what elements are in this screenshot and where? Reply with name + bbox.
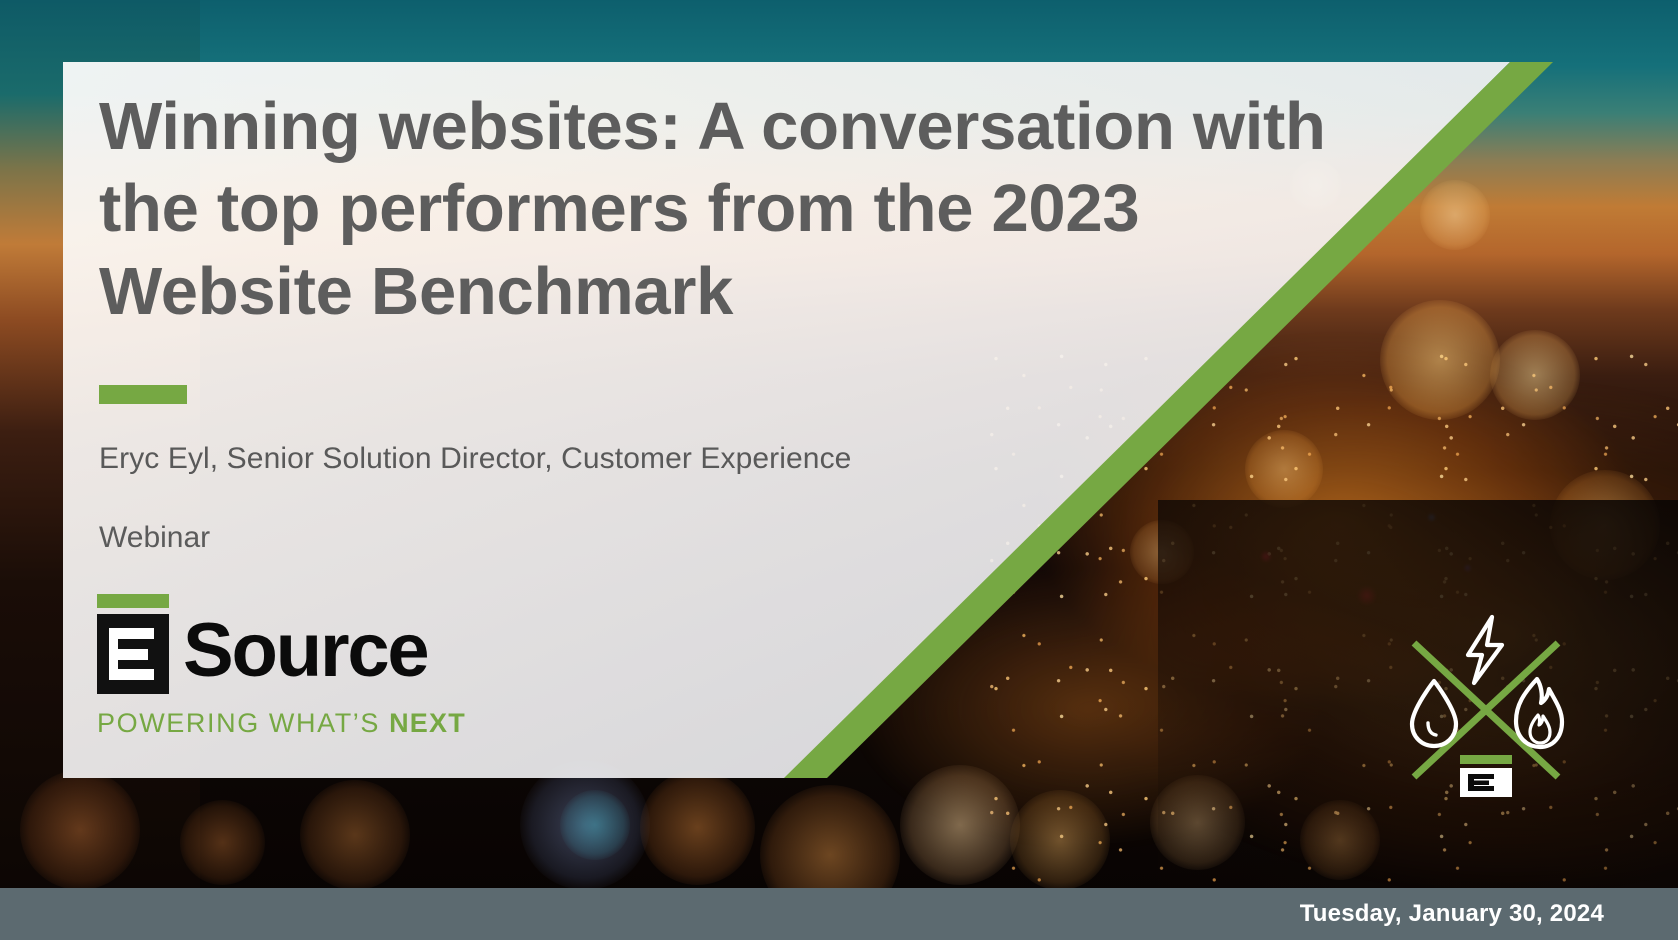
accent-bar — [99, 385, 187, 404]
slide-content: Winning websites: A conversation with th… — [99, 86, 1399, 555]
esource-emblem — [1402, 611, 1570, 797]
speaker-line: Eryc Eyl, Senior Solution Director, Cust… — [99, 442, 1399, 476]
flame-icon — [1516, 679, 1562, 747]
logo-tagline: POWERING WHAT’S NEXT — [97, 708, 466, 739]
event-type-label: Webinar — [99, 521, 1399, 555]
date-text: Tuesday, January 30, 2024 — [1300, 900, 1604, 928]
logo-green-bar — [97, 594, 169, 608]
esource-logo: Source POWERING WHAT’S NEXT — [97, 594, 466, 739]
lightning-bolt-icon — [1468, 617, 1502, 683]
water-drop-icon — [1412, 681, 1456, 746]
logo-e-mark-icon — [97, 614, 169, 694]
logo-tagline-prefix: POWERING WHAT’S — [97, 708, 389, 738]
water-drop-inner-icon — [1428, 723, 1436, 735]
flame-inner-icon — [1530, 715, 1550, 743]
logo-lockup-row: Source — [97, 614, 466, 694]
emblem-e-top-icon — [1468, 774, 1494, 779]
date-bar: Tuesday, January 30, 2024 — [0, 888, 1678, 940]
emblem-e-bottom-icon — [1468, 786, 1494, 791]
logo-wordmark: Source — [183, 616, 427, 687]
title-slide: Winning websites: A conversation with th… — [0, 0, 1678, 940]
logo-tagline-emphasis: NEXT — [389, 708, 466, 738]
emblem-e-mid-icon — [1468, 781, 1489, 786]
page-title: Winning websites: A conversation with th… — [99, 86, 1389, 333]
emblem-green-bar — [1460, 755, 1512, 764]
